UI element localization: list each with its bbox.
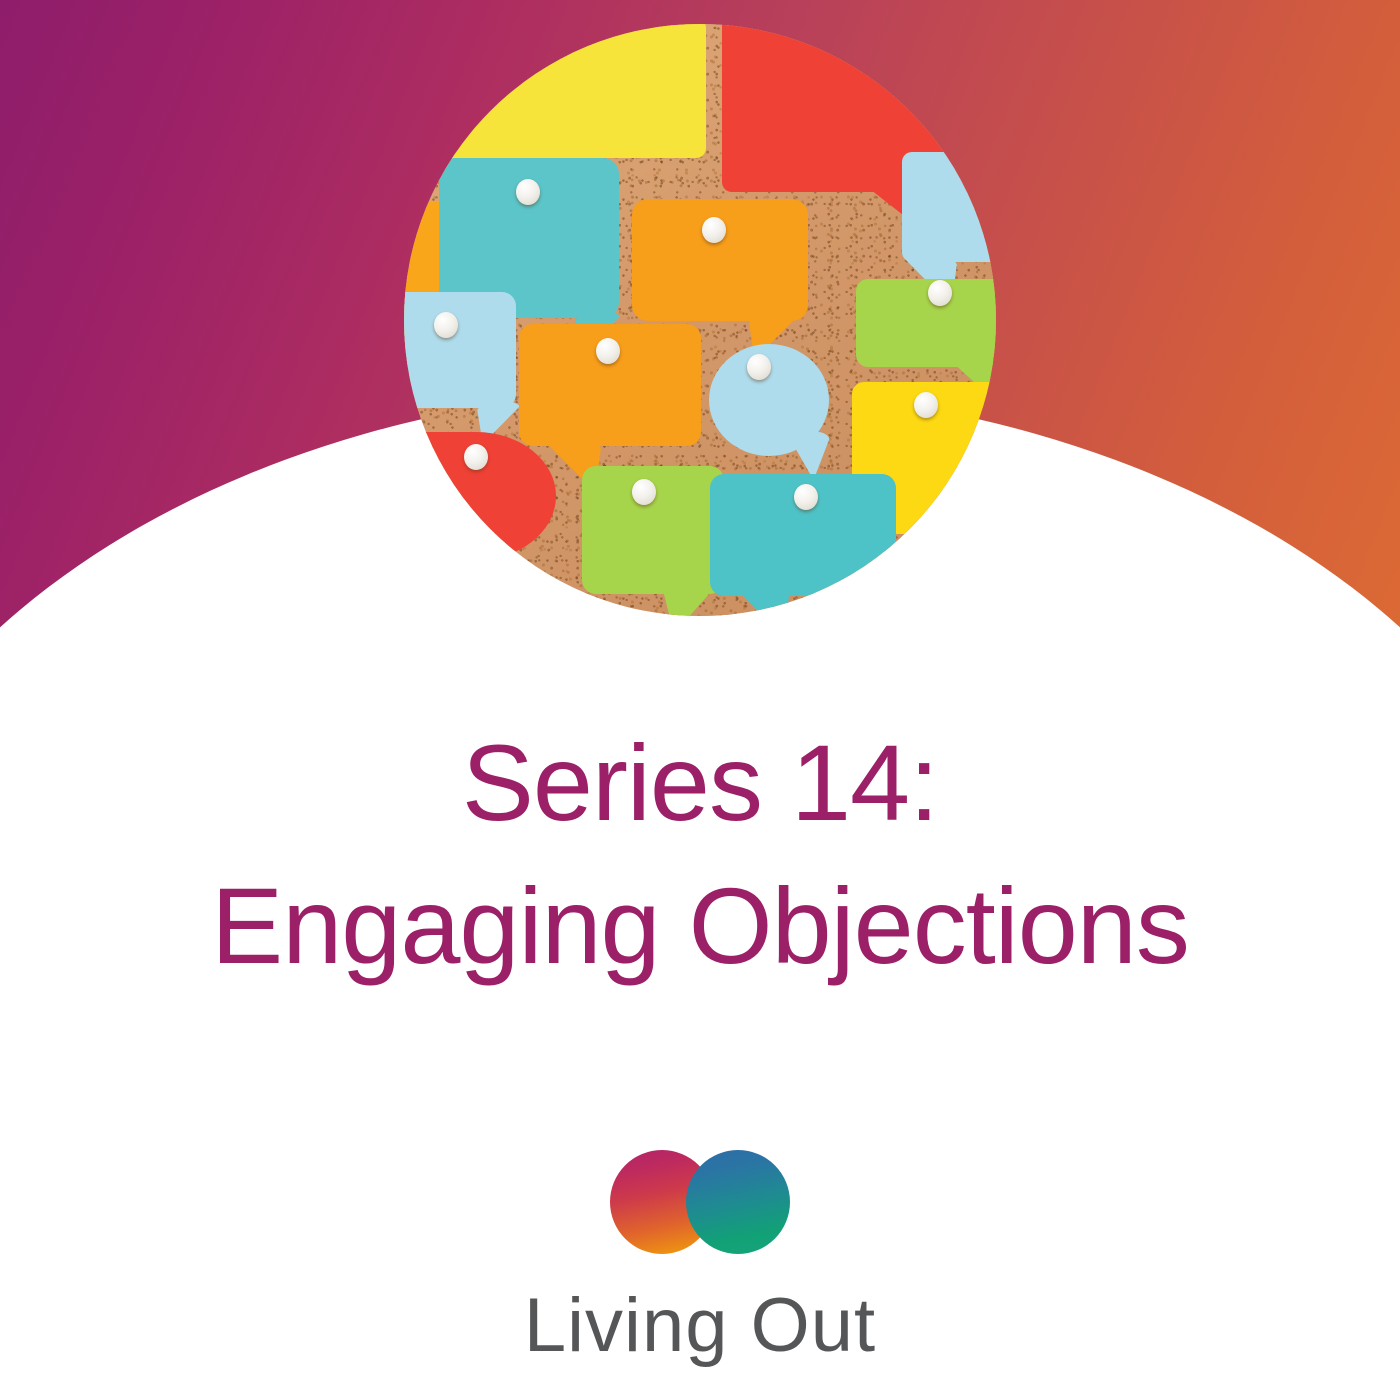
pin-icon [516,179,540,205]
pin-icon [747,354,771,380]
pin-icon [596,338,620,364]
podcast-cover-artwork: Series 14: Engaging Objections Living Ou… [0,0,1400,1400]
lightblue-speech-bubble-left [404,292,516,408]
lightblue-speech-bubble-right [902,152,996,262]
title-line-2: Engaging Objections [0,855,1400,998]
brand-logo: Living Out [0,1150,1400,1364]
brand-wordmark: Living Out [0,1288,1400,1364]
yellow-speech-bubble-top-left [404,24,706,158]
pin-icon [702,217,726,243]
pin-icon [632,479,656,505]
page-title: Series 14: Engaging Objections [0,712,1400,997]
pin-icon [434,312,458,338]
green-speech-bubble-right [856,279,996,367]
orange-speech-bubble-center [632,199,808,321]
title-line-1: Series 14: [0,712,1400,855]
living-out-venn-logo-icon [574,1150,826,1254]
pin-icon [914,392,938,418]
cover-photo-circle [404,24,996,616]
pin-icon [464,444,488,470]
pin-icon [794,484,818,510]
logo-overlap-lens [686,1150,714,1254]
pin-icon [928,280,952,306]
